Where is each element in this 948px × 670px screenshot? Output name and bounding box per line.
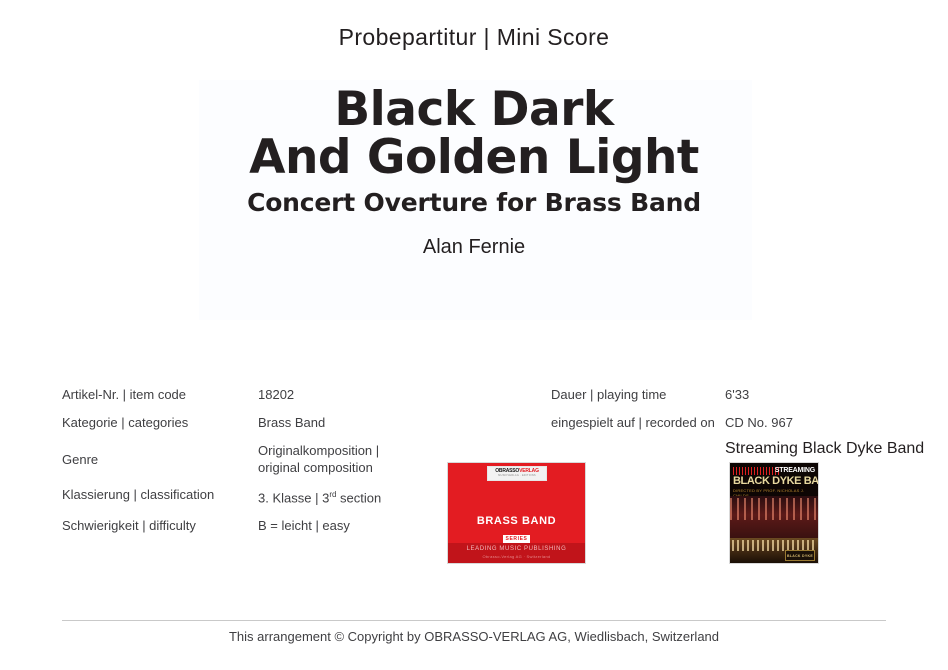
score-cover-footer-line1: LEADING MUSIC PUBLISHING	[448, 546, 585, 552]
cd-band-name: BLACK DYKE BAND	[733, 476, 819, 487]
table-row: Genre Originalkomposition | original com…	[62, 444, 462, 475]
table-row: Schwierigkeit | difficulty B = leicht | …	[62, 519, 462, 533]
composer-name: Alan Fernie	[0, 236, 948, 259]
table-row: Klassierung | classification 3. Klasse |…	[62, 488, 462, 505]
recorded-on-value-secondary: Streaming Black Dyke Band	[725, 440, 931, 458]
work-subtitle: Concert Overture for Brass Band	[0, 188, 948, 217]
cd-logo-badge-text: BLACK DYKE	[787, 554, 813, 558]
waveform-icon	[733, 467, 779, 475]
playing-time-value: 6'33	[725, 388, 931, 402]
work-title: Black Dark And Golden Light	[0, 86, 948, 181]
page-header-label: Probepartitur | Mini Score	[0, 24, 948, 51]
work-title-line1: Black Dark	[334, 82, 613, 137]
cd-concert-hall-photo	[730, 496, 818, 538]
item-code-label: Artikel-Nr. | item code	[62, 388, 258, 402]
genre-value-de: Originalkomposition |	[258, 443, 379, 458]
classification-value-tail: section	[336, 490, 381, 505]
score-cover-series: SERIES	[503, 535, 531, 543]
score-cover-thumbnail: OBRASSOVERLAG MUSIKVERLAG · EDITIONS BRA…	[447, 462, 586, 564]
publisher-logo: OBRASSOVERLAG MUSIKVERLAG · EDITIONS	[487, 466, 547, 481]
categories-value: Brass Band	[258, 416, 462, 430]
cd-cover-thumbnail: STREAMING BLACK DYKE BAND DIRECTED BY PR…	[729, 462, 819, 564]
cd-logo-badge: BLACK DYKE	[785, 550, 815, 561]
table-row: Kategorie | categories Brass Band	[62, 416, 462, 430]
cd-streaming-label: STREAMING	[775, 467, 815, 474]
work-title-line2: And Golden Light	[0, 134, 948, 181]
classification-value-main: 3. Klasse | 3	[258, 490, 329, 505]
categories-label: Kategorie | categories	[62, 416, 258, 430]
recorded-on-label: eingespielt auf | recorded on	[551, 416, 725, 430]
score-cover-title: BRASS BAND	[448, 515, 585, 527]
metadata-column-left: Artikel-Nr. | item code 18202 Kategorie …	[62, 388, 462, 547]
genre-value: Originalkomposition | original compositi…	[258, 444, 462, 475]
item-code-value: 18202	[258, 388, 462, 402]
metadata-column-right: Dauer | playing time 6'33 eingespielt au…	[551, 388, 931, 458]
cd-hall-lights	[730, 498, 818, 520]
table-row: Dauer | playing time 6'33	[551, 388, 931, 402]
playing-time-label: Dauer | playing time	[551, 388, 725, 402]
genre-value-en: original composition	[258, 461, 462, 475]
classification-label: Klassierung | classification	[62, 488, 258, 502]
publisher-logo-tagline: MUSIKVERLAG · EDITIONS	[498, 474, 536, 478]
classification-value: 3. Klasse | 3rd section	[258, 488, 462, 505]
score-cover-footer-line2: Obrasso-Verlag AG · Switzerland	[448, 554, 585, 559]
difficulty-label: Schwierigkeit | difficulty	[62, 519, 258, 533]
copyright-notice: This arrangement © Copyright by OBRASSO-…	[0, 629, 948, 644]
footer-divider	[62, 620, 886, 621]
table-row: Artikel-Nr. | item code 18202	[62, 388, 462, 402]
difficulty-value: B = leicht | easy	[258, 519, 462, 533]
table-row: eingespielt auf | recorded on CD No. 967	[551, 416, 931, 430]
score-cover-footer: LEADING MUSIC PUBLISHING Obrasso-Verlag …	[448, 543, 585, 563]
genre-label: Genre	[62, 453, 258, 467]
cd-cover-header: STREAMING BLACK DYKE BAND DIRECTED BY PR…	[730, 463, 818, 496]
title-block: Black Dark And Golden Light Concert Over…	[0, 86, 948, 217]
recorded-on-value: CD No. 967	[725, 416, 931, 430]
